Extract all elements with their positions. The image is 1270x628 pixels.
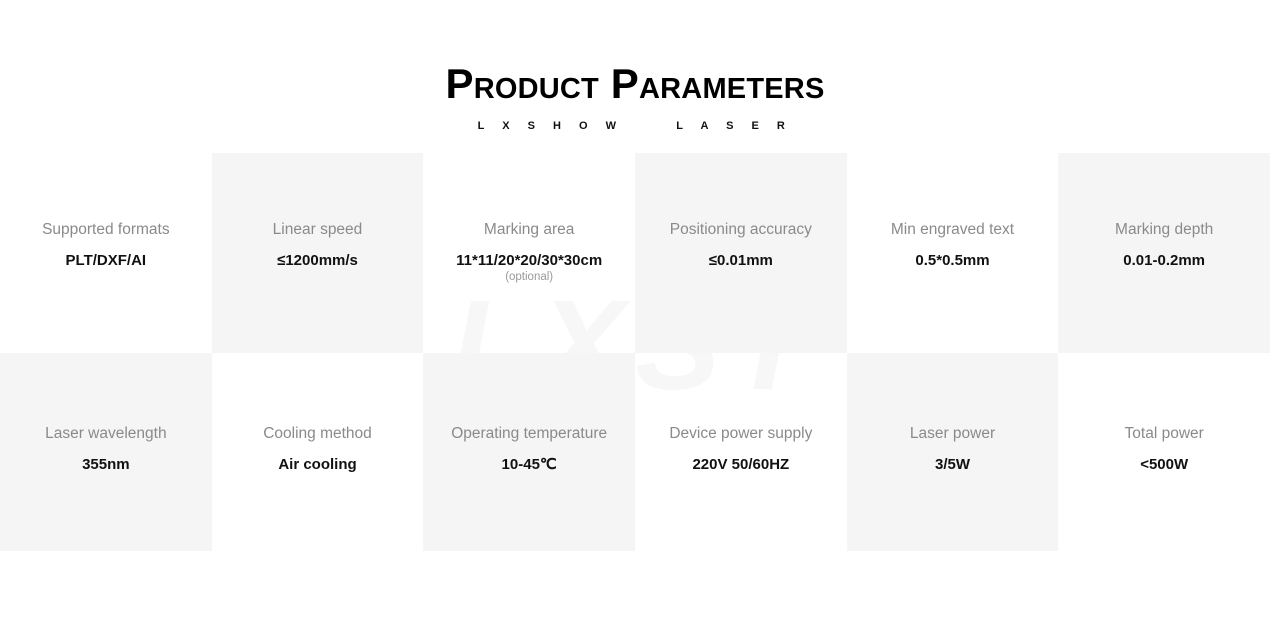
spec-label: Total power xyxy=(1125,425,1204,444)
spec-cell: Marking depth 0.01-0.2mm xyxy=(1058,153,1270,353)
spec-value: 10-45℃ xyxy=(502,456,557,474)
spec-cell: Cooling method Air cooling xyxy=(212,353,424,551)
spec-cell: Positioning accuracy ≤0.01mm xyxy=(635,153,847,353)
page-header: Product Parameters L X S H O W L A S E R xyxy=(0,0,1270,132)
spec-cell: Laser wavelength 355nm xyxy=(0,353,212,551)
spec-label: Marking area xyxy=(484,221,574,240)
spec-cell: Laser power 3/5W xyxy=(847,353,1059,551)
spec-value: 3/5W xyxy=(935,456,970,474)
spec-value: PLT/DXF/AI xyxy=(66,252,147,270)
spec-label: Marking depth xyxy=(1115,221,1213,240)
spec-cell: Total power <500W xyxy=(1058,353,1270,551)
brand-subtitle: L X S H O W L A S E R xyxy=(0,120,1270,132)
page-title: Product Parameters xyxy=(0,62,1270,106)
product-parameters-grid: Supported formats PLT/DXF/AI Linear spee… xyxy=(0,153,1270,551)
spec-value: 11*11/20*20/30*30cm xyxy=(456,252,602,270)
spec-label: Positioning accuracy xyxy=(670,221,812,240)
spec-cell: Supported formats PLT/DXF/AI xyxy=(0,153,212,353)
spec-value: 0.5*0.5mm xyxy=(915,252,989,270)
spec-value: Air cooling xyxy=(278,456,356,474)
spec-label: Laser power xyxy=(910,425,995,444)
spec-value: <500W xyxy=(1140,456,1188,474)
spec-cell: Linear speed ≤1200mm/s xyxy=(212,153,424,353)
spec-value: ≤0.01mm xyxy=(709,252,773,270)
spec-cell: Marking area 11*11/20*20/30*30cm (option… xyxy=(423,153,635,353)
spec-note: (optional) xyxy=(505,271,553,285)
spec-cell: Operating temperature 10-45℃ xyxy=(423,353,635,551)
spec-cell: Device power supply 220V 50/60HZ xyxy=(635,353,847,551)
spec-value: 0.01-0.2mm xyxy=(1123,252,1205,270)
spec-label: Operating temperature xyxy=(451,425,607,444)
spec-value: 355nm xyxy=(82,456,130,474)
spec-value: ≤1200mm/s xyxy=(277,252,358,270)
spec-label: Laser wavelength xyxy=(45,425,167,444)
spec-value: 220V 50/60HZ xyxy=(692,456,789,474)
spec-label: Cooling method xyxy=(263,425,372,444)
spec-label: Supported formats xyxy=(42,221,170,240)
spec-label: Linear speed xyxy=(273,221,363,240)
spec-label: Device power supply xyxy=(669,425,812,444)
spec-cell: Min engraved text 0.5*0.5mm xyxy=(847,153,1059,353)
spec-label: Min engraved text xyxy=(891,221,1014,240)
